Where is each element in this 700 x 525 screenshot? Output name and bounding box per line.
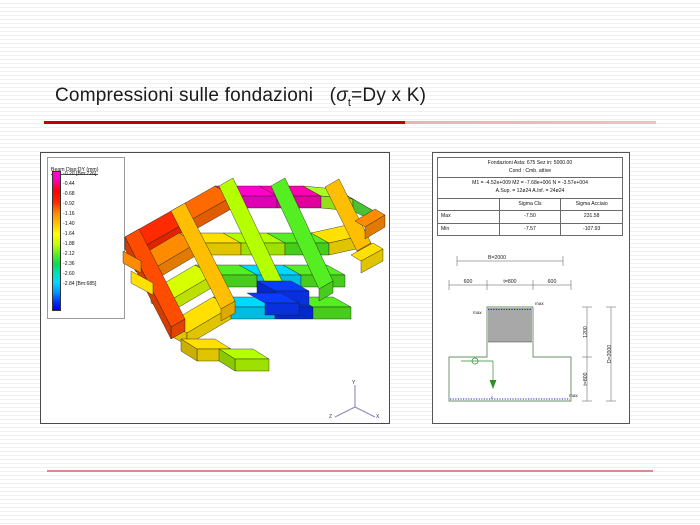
column-header-sigma-acciaio: Sigma Acciaio: [561, 198, 623, 211]
cell-min-sigma-acciaio: -107.93: [561, 223, 623, 236]
cell-min-sigma-cls: -7.57: [499, 223, 561, 236]
label-max-top: max: [535, 301, 544, 306]
dim-width-total: B=2000: [488, 255, 506, 261]
cross-section-drawing: B=2000 600 t=800 600 1200 t=800 D=2000 m…: [435, 249, 627, 419]
label-resultant-c: c: [491, 395, 494, 400]
grillage-model-3d: [119, 163, 387, 393]
bottom-divider-rule: [47, 470, 653, 472]
column-header-blank: [438, 198, 500, 211]
page-title-formula: =Dy x K): [351, 85, 426, 106]
label-max-bottom: max: [569, 393, 578, 398]
page-title-main: Compressioni sulle fondazioni: [55, 85, 313, 106]
dim-height-slab: t=800: [583, 372, 589, 385]
table-row: Max -7.50 231.58: [438, 211, 623, 224]
row-label-min: Min: [438, 223, 500, 236]
table-row-header1: Fondazioni Asta: 675 Sez in: 5000.00: [438, 158, 623, 168]
section-results-table: Fondazioni Asta: 675 Sez in: 5000.00 Con…: [437, 157, 623, 236]
legend-color-bar: [52, 171, 61, 311]
legend-label: -2.12: [63, 249, 123, 259]
legend-label-list: -0.20 [Bm:726] -0.44 -0.68 -0.92 -1.16 -…: [63, 169, 123, 289]
report-header-line1: Fondazioni Asta: 675 Sez in: 5000.00: [438, 158, 623, 168]
legend-label: -2.84 [Bm:685]: [63, 279, 123, 289]
page-title: Compressioni sulle fondazioni (σt=Dy x K…: [55, 85, 655, 109]
legend-label: -2.60: [63, 269, 123, 279]
column-header-sigma-cls: Sigma Cls: [499, 198, 561, 211]
slide-canvas: Compressioni sulle fondazioni (σt=Dy x K…: [0, 0, 700, 525]
table-row: Min -7.57 -107.93: [438, 223, 623, 236]
legend-label: -0.68: [63, 189, 123, 199]
legend-label: -1.88: [63, 239, 123, 249]
legend-label: -2.36: [63, 259, 123, 269]
dim-height-flange: 1200: [583, 326, 589, 338]
legend-label: -0.20 [Bm:726]: [63, 169, 123, 179]
cell-max-sigma-cls: -7.50: [499, 211, 561, 224]
section-report-panel: Fondazioni Asta: 675 Sez in: 5000.00 Con…: [432, 152, 630, 424]
dim-width-right: 600: [548, 279, 557, 285]
dim-height-total: D=2000: [607, 345, 613, 363]
dim-width-web: t=800: [503, 279, 516, 285]
table-row-header3: M1 = -4.52e+009 M2 = -7.68e+006 N = -3.5…: [438, 178, 623, 188]
legend-label: -1.16: [63, 209, 123, 219]
report-header-line3: M1 = -4.52e+009 M2 = -7.68e+006 N = -3.5…: [438, 178, 623, 188]
contour-legend: Beam Disp:DY (mm) -0.20 [Bm:726] -0.44 -…: [47, 157, 125, 319]
report-header-line2: Cond : Cmb. attive: [438, 168, 623, 178]
legend-label: -0.44: [63, 179, 123, 189]
model-view-panel: Beam Disp:DY (mm) -0.20 [Bm:726] -0.44 -…: [40, 152, 390, 424]
table-row-header4: A.Sup. = 12ø24 A.Inf. = 24ø24: [438, 188, 623, 198]
dim-width-left: 600: [464, 279, 473, 285]
axis-label-z: Z: [329, 414, 332, 419]
title-underline-rule: [44, 121, 656, 124]
table-row-header2: Cond : Cmb. attive: [438, 168, 623, 178]
row-label-max: Max: [438, 211, 500, 224]
title-block: Compressioni sulle fondazioni (σt=Dy x K…: [55, 85, 655, 109]
legend-label: -0.92: [63, 199, 123, 209]
legend-label: -1.40: [63, 219, 123, 229]
label-max-left: max: [473, 310, 482, 315]
axis-label-x: X: [376, 414, 380, 419]
report-header-line4: A.Sup. = 12ø24 A.Inf. = 24ø24: [438, 188, 623, 198]
legend-label: -1.64: [63, 229, 123, 239]
sigma-symbol: σ: [336, 85, 348, 106]
cell-max-sigma-acciaio: 231.58: [561, 211, 623, 224]
axes-triad-icon: Y Z X: [327, 379, 383, 419]
table-row-columns: Sigma Cls Sigma Acciaio: [438, 198, 623, 211]
